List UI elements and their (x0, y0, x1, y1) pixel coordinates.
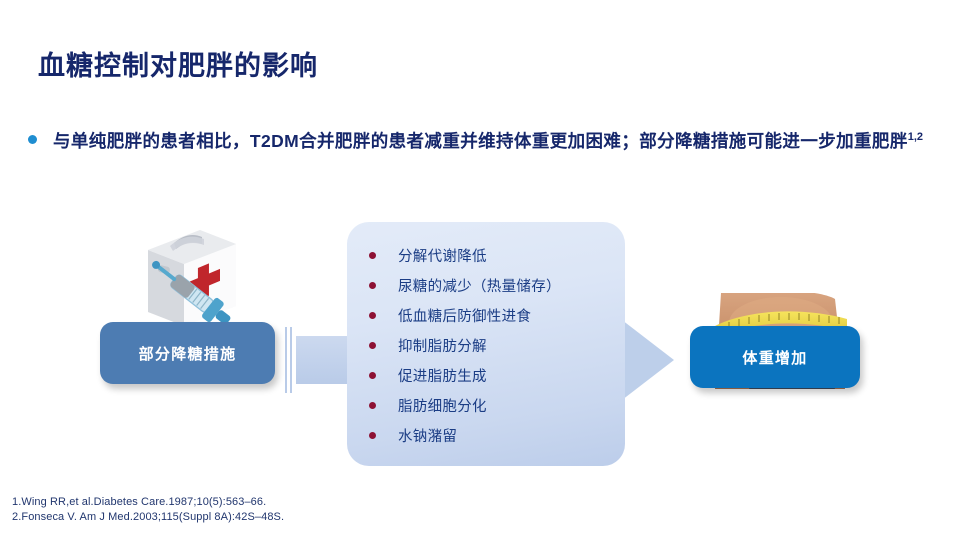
lead-bullet-text-block: 与单纯肥胖的患者相比，T2DM合并肥胖的患者减重并维持体重更加困难；部分降糖措施… (53, 126, 923, 156)
list-item-label: 抑制脂肪分解 (398, 335, 487, 356)
lead-bullet-row: 与单纯肥胖的患者相比，T2DM合并肥胖的患者减重并维持体重更加困难；部分降糖措施… (28, 126, 933, 156)
list-item: 水钠潴留 (347, 420, 625, 450)
list-item: 低血糖后防御性进食 (347, 300, 625, 330)
list-item: 促进脂肪生成 (347, 360, 625, 390)
bullet-dot-icon (369, 282, 376, 289)
list-item-label: 水钠潴留 (398, 425, 457, 446)
bullet-dot-icon (369, 402, 376, 409)
arrow-tail-line-2 (290, 327, 292, 393)
list-item-label: 尿糖的减少（热量储存） (398, 275, 561, 296)
list-item: 分解代谢降低 (347, 240, 625, 270)
bullet-dot-icon (369, 342, 376, 349)
bullet-dot-icon (28, 135, 37, 144)
list-item: 抑制脂肪分解 (347, 330, 625, 360)
list-item-label: 分解代谢降低 (398, 245, 487, 266)
arrow-head (622, 320, 674, 400)
list-item-label: 脂肪细胞分化 (398, 395, 487, 416)
diagram-stage: 部分降糖措施 分解代谢降低 尿糖的减少（热量储存） 低血糖后防御性进食 抑制脂肪… (0, 200, 960, 490)
list-item-label: 促进脂肪生成 (398, 365, 487, 386)
bullet-dot-icon (369, 432, 376, 439)
right-node: 体重增加 (690, 248, 860, 388)
left-node: 部分降糖措施 (100, 224, 275, 384)
reference-line: 1.Wing RR,et al.Diabetes Care.1987;10(5)… (12, 495, 284, 511)
reference-line: 2.Fonseca V. Am J Med.2003;115(Suppl 8A)… (12, 510, 284, 526)
lead-bullet-text: 与单纯肥胖的患者相比，T2DM合并肥胖的患者减重并维持体重更加困难；部分降糖措施… (53, 131, 908, 151)
list-item-label: 低血糖后防御性进食 (398, 305, 531, 326)
list-item: 尿糖的减少（热量储存） (347, 270, 625, 300)
left-node-label: 部分降糖措施 (139, 343, 237, 364)
bullet-dot-icon (369, 252, 376, 259)
reference-superscript: 1,2 (908, 131, 923, 143)
arrow-tail-line-1 (285, 327, 287, 393)
right-node-label: 体重增加 (742, 347, 807, 368)
page-title: 血糖控制对肥胖的影响 (38, 44, 318, 83)
list-item: 脂肪细胞分化 (347, 390, 625, 420)
left-node-label-box[interactable]: 部分降糖措施 (100, 322, 275, 384)
references-block: 1.Wing RR,et al.Diabetes Care.1987;10(5)… (12, 495, 284, 526)
bullet-dot-icon (369, 312, 376, 319)
first-aid-kit-icon (130, 224, 248, 332)
bullet-dot-icon (369, 372, 376, 379)
mechanism-list-panel: 分解代谢降低 尿糖的减少（热量储存） 低血糖后防御性进食 抑制脂肪分解 促进脂肪… (347, 222, 625, 466)
right-node-label-box[interactable]: 体重增加 (690, 326, 860, 388)
